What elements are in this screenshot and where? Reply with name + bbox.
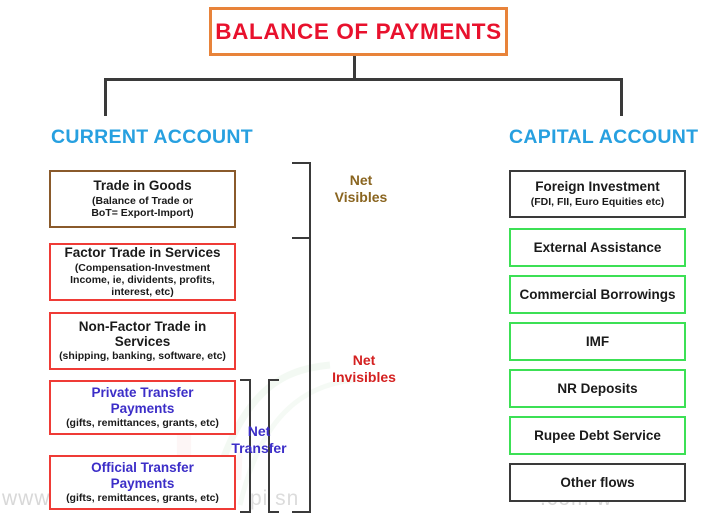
box-subtitle-line-1: (gifts, remittances, grants, etc) [66, 493, 219, 505]
bracket-label-line-1: Net [325, 172, 397, 189]
box-title: Factor Trade in Services [64, 245, 220, 260]
box-subtitle-line-1: (shipping, banking, software, etc) [59, 351, 226, 363]
box-factor-trade-in-services[interactable]: Factor Trade in Services (Compensation-I… [49, 243, 236, 301]
box-title-line-2: Payments [111, 476, 175, 491]
box-title-line-1: Private Transfer [91, 385, 193, 400]
title-box: BALANCE OF PAYMENTS [209, 7, 508, 56]
box-title: Rupee Debt Service [534, 428, 661, 443]
box-subtitle-line-2: BoT= Export-Import) [91, 208, 193, 220]
bracket-label-line-1: Net [322, 352, 406, 369]
box-trade-in-goods[interactable]: Trade in Goods (Balance of Trade or BoT=… [49, 170, 236, 228]
bracket-label-net-visibles: Net Visibles [325, 172, 397, 205]
box-title-line-2: Services [115, 334, 171, 349]
box-title-line-1: Official Transfer [91, 460, 194, 475]
column-heading-capital-account: CAPITAL ACCOUNT [509, 126, 698, 149]
bracket-label-line-2: Visibles [325, 189, 397, 206]
box-subtitle-line-1: (gifts, remittances, grants, etc) [66, 418, 219, 430]
box-commercial-borrowings[interactable]: Commercial Borrowings [509, 275, 686, 314]
box-imf[interactable]: IMF [509, 322, 686, 361]
box-subtitle-line-1: (Compensation-Investment [75, 263, 210, 275]
box-private-transfer-payments[interactable]: Private Transfer Payments (gifts, remitt… [49, 380, 236, 435]
connector-horizontal [104, 78, 623, 81]
box-title: Trade in Goods [93, 178, 191, 193]
box-title: External Assistance [534, 240, 662, 255]
box-official-transfer-payments[interactable]: Official Transfer Payments (gifts, remit… [49, 455, 236, 510]
column-heading-current-account: CURRENT ACCOUNT [51, 126, 253, 149]
box-external-assistance[interactable]: External Assistance [509, 228, 686, 267]
box-title: Other flows [560, 475, 634, 490]
connector-drop-left [104, 78, 107, 116]
box-title: Foreign Investment [535, 179, 660, 194]
bracket-label-line-1: Net [222, 423, 296, 440]
box-title-line-1: Non-Factor Trade in [79, 319, 207, 334]
box-subtitle-line-1: (FDI, FII, Euro Equities etc) [531, 197, 665, 209]
connector-drop-right [620, 78, 623, 116]
box-title: IMF [586, 334, 609, 349]
box-subtitle-line-1: (Balance of Trade or [92, 196, 193, 208]
bracket-label-net-transfer: Net Transfer [222, 423, 296, 456]
box-subtitle-line-3: interest, etc) [111, 287, 173, 299]
bracket-net-visibles [292, 162, 311, 239]
diagram-canvas: www.c pi sn .com w L BALANCE OF PAYMENTS… [0, 0, 710, 523]
connector-stem [353, 56, 356, 80]
bracket-label-line-2: Invisibles [322, 369, 406, 386]
bracket-label-net-invisibles: Net Invisibles [322, 352, 406, 385]
bracket-net-invisibles [292, 237, 311, 513]
page-title: BALANCE OF PAYMENTS [215, 19, 501, 45]
bracket-label-line-2: Transfer [222, 440, 296, 457]
box-non-factor-trade-in-services[interactable]: Non-Factor Trade in Services (shipping, … [49, 312, 236, 370]
box-subtitle-line-2: Income, ie, dividents, profits, [70, 275, 215, 287]
box-title: Commercial Borrowings [519, 287, 675, 302]
box-title: NR Deposits [557, 381, 637, 396]
box-other-flows[interactable]: Other flows [509, 463, 686, 502]
box-title-line-2: Payments [111, 401, 175, 416]
box-foreign-investment[interactable]: Foreign Investment (FDI, FII, Euro Equit… [509, 170, 686, 218]
box-nr-deposits[interactable]: NR Deposits [509, 369, 686, 408]
box-rupee-debt-service[interactable]: Rupee Debt Service [509, 416, 686, 455]
